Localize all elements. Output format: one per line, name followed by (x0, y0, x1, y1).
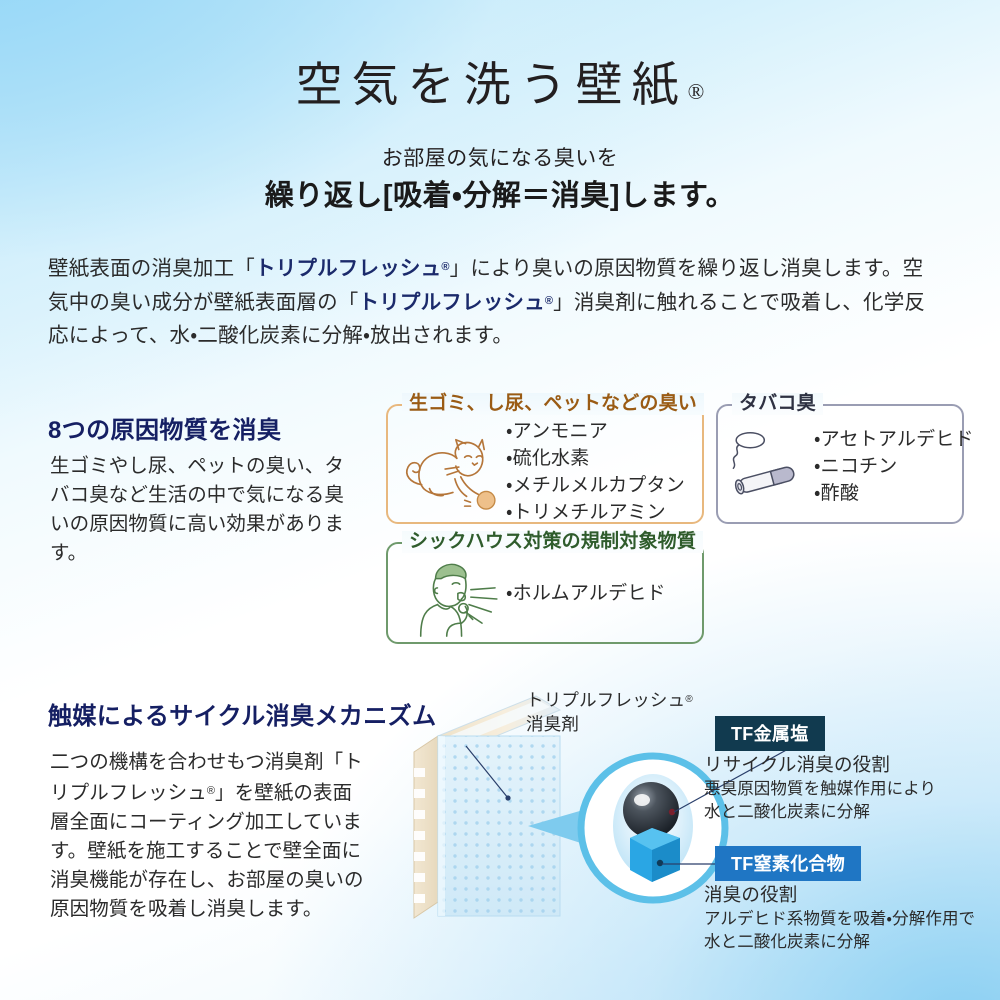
subtitle-line-2: 繰り返し[吸着・分解＝消臭]します。 (0, 172, 1000, 214)
description-tf-metal-salt: リサイクル消臭の役割 悪臭原因物質を触媒作用により 水と二酸化炭素に分解 (704, 752, 936, 824)
list-item: ・ニコチン (814, 453, 974, 480)
cat-playing-icon (396, 428, 504, 512)
registered-mark-icon: ® (685, 694, 693, 705)
page-title-text: 空気を洗う壁紙 (296, 60, 688, 112)
label-line-1: トリプルフレッシュ (526, 690, 685, 710)
odor-box-kitchen-title: 生ゴミ、し尿、ペットなどの臭い (402, 393, 704, 415)
coughing-person-icon (404, 558, 508, 640)
description-tf-nitrogen-compound: 消臭の役割 アルデヒド系物質を吸着・分解作用で 水と二酸化炭素に分解 (704, 882, 975, 954)
list-item: ・アセトアルデヒド (814, 426, 974, 453)
detail-line-2: 水と二酸化炭素に分解 (704, 801, 936, 824)
odor-box-sickhouse: シックハウス対策の規制対象物質 (386, 542, 704, 644)
list-item: ・硫化水素 (506, 445, 685, 472)
mechanism-diagram: トリプルフレッシュ® 消臭剤 TF金属塩 リサイクル消臭の役割 悪臭原因物質を触… (408, 688, 988, 978)
registered-mark-icon: ® (441, 261, 449, 273)
list-item: ・トリメチルアミン (506, 499, 685, 526)
list-item: ・アンモニア (506, 418, 685, 445)
section-heading-mechanism: 触媒によるサイクル消臭メカニズム (48, 696, 436, 731)
odor-box-kitchen-list: ・アンモニア ・硫化水素 ・メチルメルカプタン ・トリメチルアミン (506, 418, 685, 526)
role-text: 消臭の役割 (704, 882, 975, 908)
label-triple-fresh-deodorant: トリプルフレッシュ® 消臭剤 (526, 688, 693, 736)
label-line-2: 消臭剤 (526, 712, 693, 736)
subtitle-line-1: お部屋の気になる臭いを (0, 142, 1000, 172)
registered-mark-icon: ® (545, 295, 553, 307)
brand-name-triple-fresh: トリプルフレッシュ® (359, 291, 554, 314)
odor-box-sickhouse-list: ・ホルムアルデヒド (506, 580, 666, 607)
detail-line-1: アルデヒド系物質を吸着・分解作用で (704, 908, 975, 931)
list-item: ・ホルムアルデヒド (506, 580, 666, 607)
odor-box-sickhouse-title: シックハウス対策の規制対象物質 (402, 531, 703, 553)
odor-box-tobacco: タバコ臭 ・アセトアルデヒド ・ニコチン ・酢酸 (716, 404, 964, 524)
section-body-mechanism: 二つの機構を合わせもつ消臭剤「トリプルフレッシュ®」を壁紙の表面層全面にコーティ… (50, 748, 370, 924)
role-text: リサイクル消臭の役割 (704, 752, 936, 778)
odor-box-kitchen: 生ゴミ、し尿、ペットなどの臭い (386, 404, 704, 524)
registered-mark-icon: ® (207, 785, 215, 797)
infographic-page: 空気を洗う壁紙® お部屋の気になる臭いを 繰り返し[吸着・分解＝消臭]します。 … (0, 0, 1000, 1000)
section-body-odor: 生ゴミやし尿、ペットの臭い、タバコ臭など生活の中で気になる臭いの原因物質に高い効… (50, 452, 350, 568)
registered-mark-icon: ® (688, 79, 705, 104)
odor-box-tobacco-list: ・アセトアルデヒド ・ニコチン ・酢酸 (814, 426, 974, 507)
intro-text-part-1: 壁紙表面の消臭加工「 (48, 257, 255, 280)
list-item: ・メチルメルカプタン (506, 472, 685, 499)
detail-line-2: 水と二酸化炭素に分解 (704, 931, 975, 954)
intro-paragraph: 壁紙表面の消臭加工「トリプルフレッシュ®」により臭いの原因物質を繰り返し消臭しま… (48, 251, 928, 352)
brand-name-text: トリプルフレッシュ (255, 257, 441, 280)
section-heading-odor: 8つの原因物質を消臭 (48, 410, 281, 445)
brand-name-text: トリプルフレッシュ (359, 291, 545, 314)
cigarette-icon (724, 428, 814, 503)
odor-box-tobacco-title: タバコ臭 (732, 393, 823, 415)
badge-tf-nitrogen-compound: TF窒素化合物 (715, 846, 861, 881)
brand-name-triple-fresh: トリプルフレッシュ® (255, 257, 450, 280)
page-title: 空気を洗う壁紙® (0, 46, 1000, 115)
detail-line-1: 悪臭原因物質を触媒作用により (704, 778, 936, 801)
list-item: ・酢酸 (814, 480, 974, 507)
badge-tf-metal-salt: TF金属塩 (715, 716, 825, 751)
